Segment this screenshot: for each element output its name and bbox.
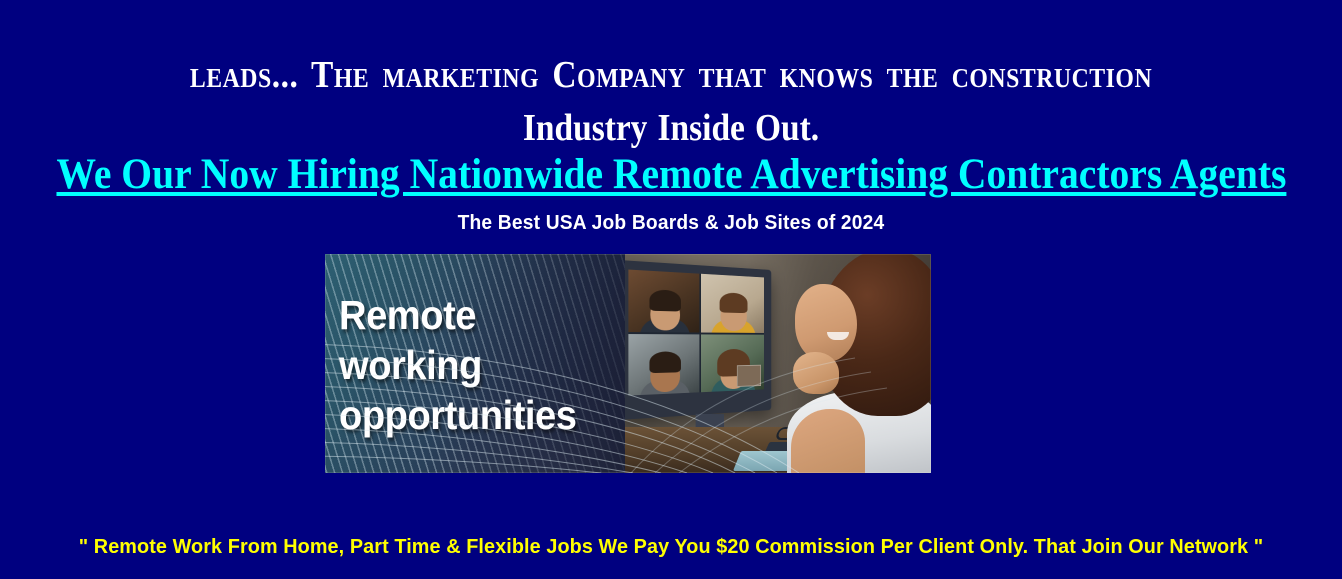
hiring-link[interactable]: We Our Now Hiring Nationwide Remote Adve… <box>56 151 1286 198</box>
banner-left-panel: Remote working opportunities <box>325 254 625 473</box>
banner-headline-line-2: opportunities <box>339 390 604 440</box>
banner-headline: Remote working opportunities <box>339 290 604 440</box>
woman-arm <box>791 409 865 473</box>
woman-face <box>795 284 857 362</box>
participant-2-hair <box>719 292 747 313</box>
woman-hand <box>793 352 839 394</box>
self-view-thumbnail <box>737 365 761 387</box>
subheadline: The Best USA Job Boards & Job Sites of 2… <box>27 210 1315 236</box>
hiring-headline: We Our Now Hiring Nationwide Remote Adve… <box>0 151 1342 198</box>
page-title: leads... The marketing Company that know… <box>81 49 1262 155</box>
call-participant-4 <box>701 334 764 392</box>
call-participant-1 <box>628 270 699 333</box>
banner-headline-line-1: Remote working <box>339 290 604 390</box>
page-title-line-2: Industry Inside Out. <box>81 102 1262 155</box>
commission-note: " Remote Work From Home, Part Time & Fle… <box>7 534 1336 560</box>
call-participant-3 <box>628 334 699 396</box>
participant-1-hair <box>649 289 681 311</box>
call-participant-2 <box>701 274 764 333</box>
page-root: leads... The marketing Company that know… <box>0 0 1342 579</box>
remote-working-banner[interactable]: Remote working opportunities <box>325 254 931 473</box>
video-call-grid <box>628 270 764 396</box>
banner-inner: Remote working opportunities <box>325 254 931 473</box>
banner-photo <box>625 254 931 473</box>
monitor <box>625 260 771 420</box>
page-title-line-1: leads... The marketing Company that know… <box>81 49 1262 102</box>
participant-3-hair <box>649 351 681 373</box>
